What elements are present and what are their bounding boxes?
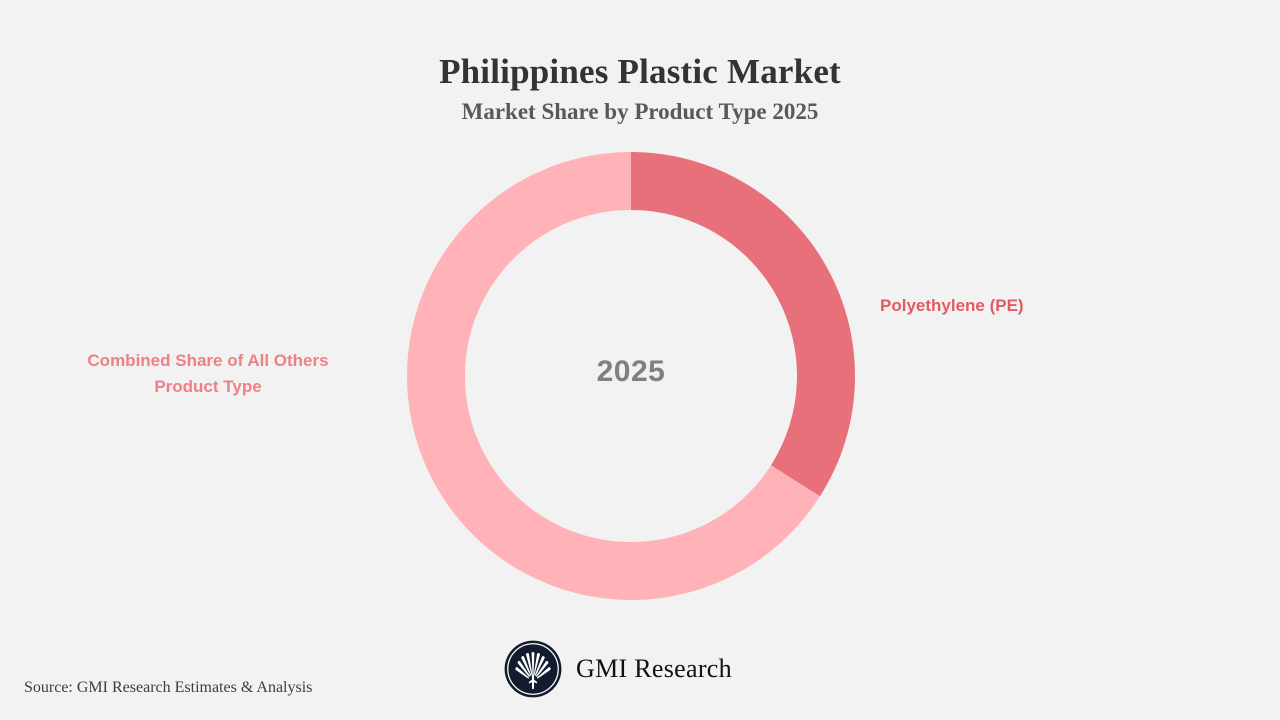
source-note: Source: GMI Research Estimates & Analysi… — [24, 679, 312, 697]
gmi-shell-logo-icon — [504, 640, 562, 698]
donut-center-year: 2025 — [407, 355, 855, 389]
brand-name: GMI Research — [576, 654, 732, 684]
page-subtitle: Market Share by Product Type 2025 — [0, 99, 1280, 125]
page-title: Philippines Plastic Market — [0, 52, 1280, 92]
donut-slice-polyethylene[interactable] — [631, 152, 855, 496]
slice-label-polyethylene: Polyethylene (PE) — [880, 293, 1200, 319]
slice-label-combined-others: Combined Share of All Others Product Typ… — [72, 348, 344, 401]
chart-canvas: Philippines Plastic Market Market Share … — [0, 0, 1280, 720]
brand-lockup: GMI Research — [504, 640, 732, 698]
